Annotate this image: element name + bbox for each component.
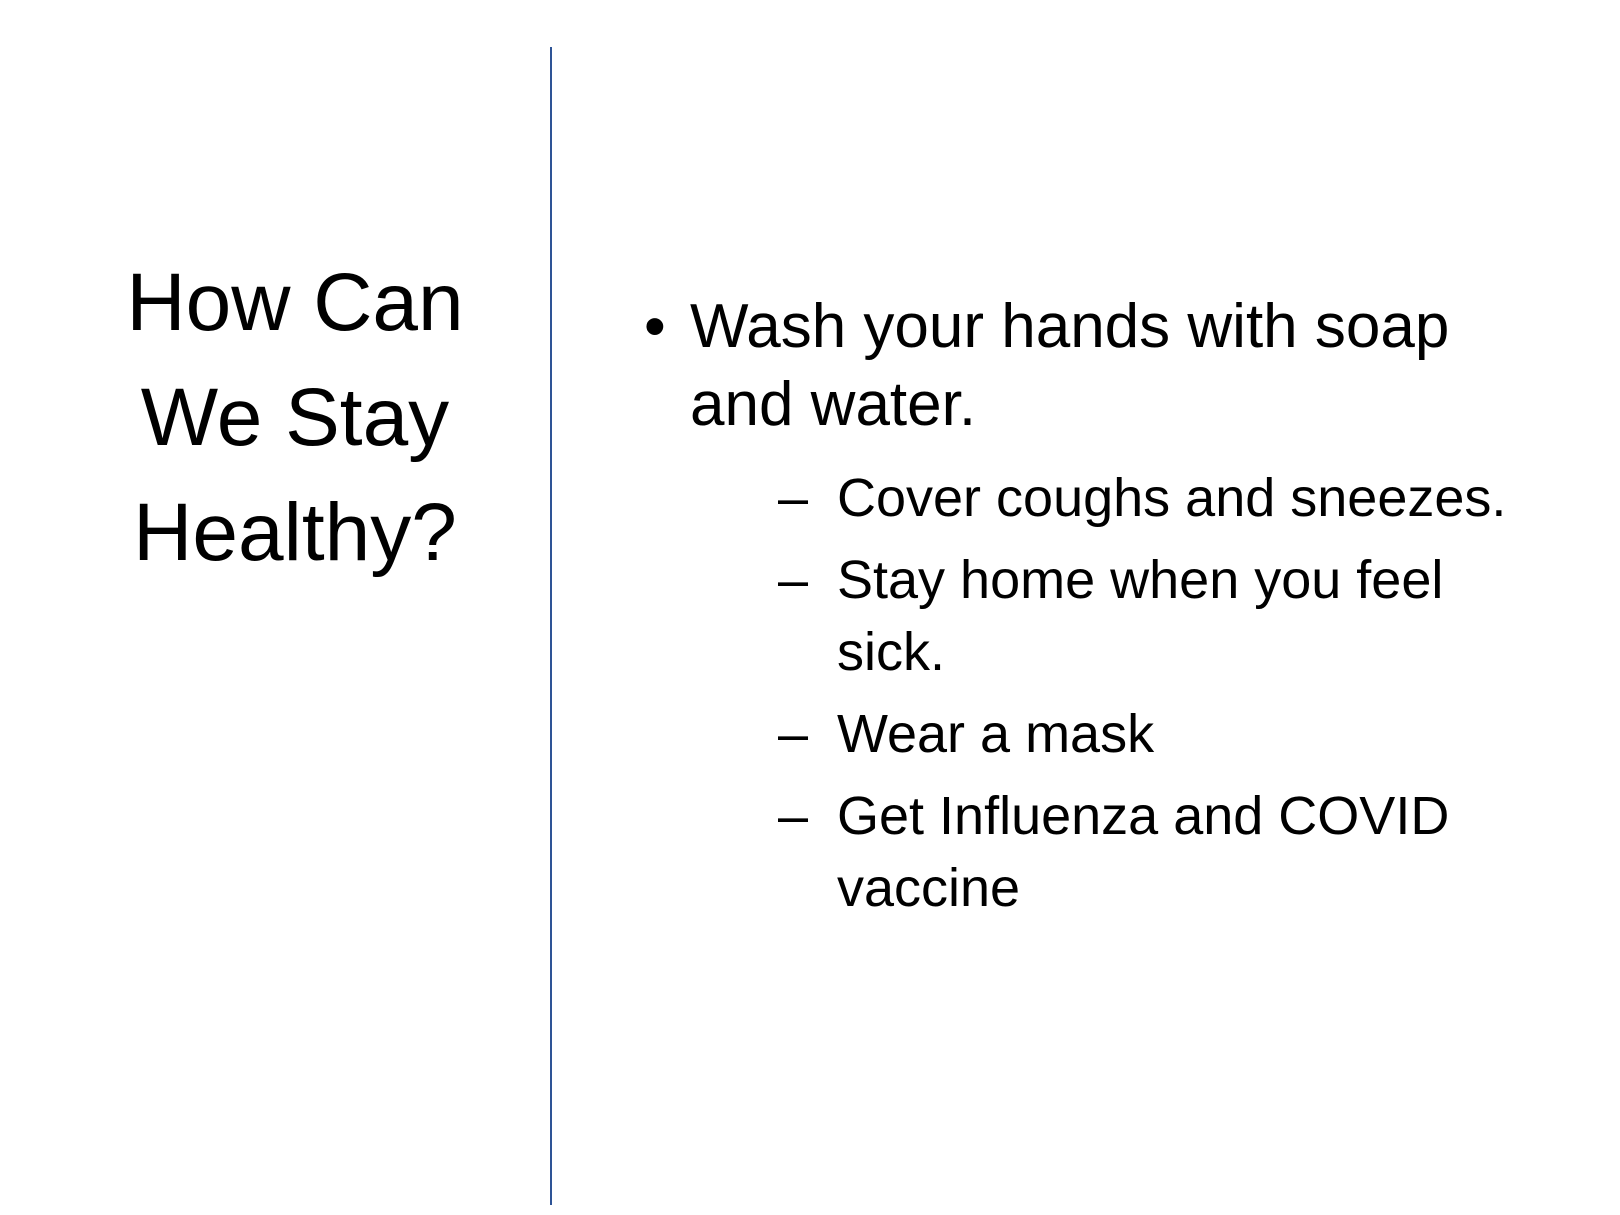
slide-body-content: • Wash your hands with soap and water. –… (640, 288, 1540, 934)
vertical-divider-rule (550, 47, 552, 1205)
bullet-list-level-1: • Wash your hands with soap and water. –… (640, 288, 1540, 924)
bullet-list-level-2: – Cover coughs and sneezes. – Stay home … (690, 462, 1540, 924)
list-item: – Stay home when you feel sick. (778, 544, 1540, 688)
bullet-dash-icon: – (778, 780, 808, 852)
bullet-dash-icon: – (778, 462, 808, 534)
slide-canvas: How Can We Stay Healthy? • Wash your han… (0, 0, 1620, 1215)
list-item: • Wash your hands with soap and water. –… (640, 288, 1540, 924)
sub-bullet-text: Cover coughs and sneezes. (837, 462, 1540, 534)
title-line-3: Healthy? (60, 475, 530, 590)
list-item: – Wear a mask (778, 698, 1540, 770)
sub-bullet-text: Wear a mask (837, 698, 1540, 770)
list-item: – Get Influenza and COVID vaccine (778, 780, 1540, 924)
bullet-dot-icon: • (644, 288, 666, 366)
sub-bullet-text: Get Influenza and COVID vaccine (837, 780, 1540, 924)
title-line-1: How Can (60, 245, 530, 360)
sub-bullet-text: Stay home when you feel sick. (837, 544, 1540, 688)
list-item: – Cover coughs and sneezes. (778, 462, 1540, 534)
title-line-2: We Stay (60, 360, 530, 475)
slide-title: How Can We Stay Healthy? (60, 245, 530, 590)
bullet-text: Wash your hands with soap and water. (690, 288, 1540, 444)
bullet-dash-icon: – (778, 698, 808, 770)
bullet-dash-icon: – (778, 544, 808, 616)
